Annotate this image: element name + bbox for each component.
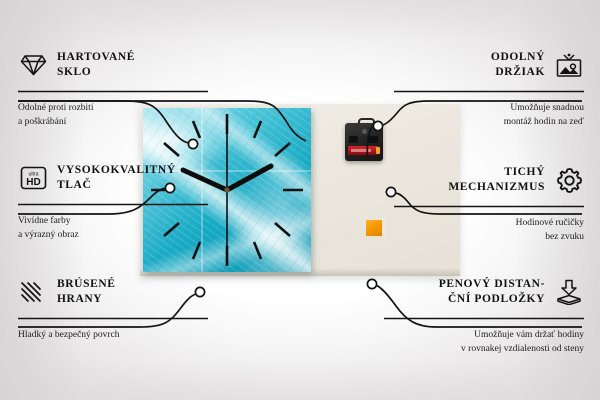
feature-title: HARTOVANÉ SKLO (57, 50, 135, 80)
feature-rule (384, 317, 584, 320)
feature-description: Odolné proti rozbití a poškrábání (18, 98, 208, 129)
feature-header: TICHÝ MECHANIZMUS (394, 165, 584, 195)
feature-description: Vivídne farby a výrazný obraz (18, 211, 208, 242)
feature-desc-line1: Odolné proti rozbití (18, 103, 93, 113)
feature-title-line1: ODOLNÝ (491, 51, 545, 63)
feature-desc-line1: Umožňuje snadnou (510, 103, 584, 113)
mechanism-slot-right (367, 136, 378, 143)
feature-title-line2: HRANY (57, 293, 102, 305)
feature-title-line1: HARTOVANÉ (57, 51, 135, 63)
feature-desc-line1: Vivídne farby (18, 216, 70, 226)
clock-mechanism (345, 123, 383, 161)
feature-desc-line2: a poškrábání (18, 117, 66, 127)
feature-description: Umožňuje vám držať hodiny v rovnakej vzd… (384, 325, 584, 356)
feature-silent-mechanism: TICHÝ MECHANIZMUS Hodinové ručičky bez z… (394, 165, 584, 244)
feature-header: PENOVÝ DISTAN- ČNÍ PODLOŽKY (384, 277, 584, 307)
feature-title: BRÚSENÉ HRANY (57, 277, 116, 307)
feature-title: ODOLNÝ DRŽIAK (491, 50, 545, 80)
feature-high-quality-print: ultra HD VYSOKOKVALITNÝ TLAČ Vivídne far… (18, 163, 208, 242)
feature-description: Hladký a bezpečný povrch (18, 325, 208, 342)
product-infographic: HARTOVANÉ SKLO Odolné proti rozbití a po… (0, 0, 600, 400)
foam-pad-face (366, 220, 382, 236)
feature-rule (18, 90, 208, 93)
ultra-hd-icon: ultra HD (18, 163, 48, 193)
diamond-icon (18, 50, 48, 80)
feature-desc-line1: Umožňuje vám držať hodiny (474, 330, 584, 340)
feature-title-line1: VYSOKOKVALITNÝ (57, 164, 176, 176)
battery (348, 146, 378, 155)
wall-hanger-icon (554, 50, 584, 80)
feature-header: ultra HD VYSOKOKVALITNÝ TLAČ (18, 163, 208, 193)
feature-header: ODOLNÝ DRŽIAK (394, 50, 584, 80)
mechanism-slot-left (349, 136, 358, 143)
feature-title-line1: BRÚSENÉ (57, 278, 116, 290)
feature-desc-line1: Hodinové ručičky (516, 218, 584, 228)
gear-icon (554, 165, 584, 195)
feature-desc-line2: v rovnakej vzdialenosti od steny (461, 344, 584, 354)
feature-title-line2: ČNÍ PODLOŽKY (448, 293, 545, 305)
press-pad-icon (554, 277, 584, 307)
feature-title-line2: MECHANIZMUS (448, 181, 545, 193)
battery-positive-tip (376, 147, 380, 154)
node-foam (367, 279, 376, 288)
feature-title-line1: PENOVÝ DISTAN- (439, 278, 545, 290)
foam-pad-side (382, 218, 386, 236)
clock-center-cap (224, 187, 229, 192)
feature-header: HARTOVANÉ SKLO (18, 50, 208, 80)
feature-title: VYSOKOKVALITNÝ TLAČ (57, 163, 176, 193)
feature-title-line2: DRŽIAK (495, 66, 545, 78)
feature-durable-holder: ODOLNÝ DRŽIAK Umožňuje snadnou montáž ho… (394, 50, 584, 129)
feature-desc-line2: bez zvuku (545, 232, 584, 242)
sanded-edge-icon (18, 277, 48, 307)
feature-sanded-edges: BRÚSENÉ HRANY Hladký a bezpečný povrch (18, 277, 208, 343)
minute-hand (227, 166, 271, 190)
feature-tempered-glass: HARTOVANÉ SKLO Odolné proti rozbití a po… (18, 50, 208, 129)
feature-foam-spacers: PENOVÝ DISTAN- ČNÍ PODLOŽKY Umožňuje vám… (384, 277, 584, 356)
feature-title: TICHÝ MECHANIZMUS (448, 165, 545, 195)
feature-rule (394, 90, 584, 93)
feature-desc-line2: montáž hodin na zeď (504, 117, 584, 127)
feature-rule (18, 317, 208, 320)
feature-header: BRÚSENÉ HRANY (18, 277, 208, 307)
feature-description: Hodinové ručičky bez zvuku (394, 213, 584, 244)
feature-title-line2: TLAČ (57, 179, 91, 191)
feature-rule (394, 205, 584, 208)
feature-description: Umožňuje snadnou montáž hodin na zeď (394, 98, 584, 129)
battery-label (351, 149, 371, 152)
feature-desc-line1: Hladký a bezpečný povrch (18, 330, 120, 340)
feature-desc-line2: a výrazný obraz (18, 230, 79, 240)
ultra-hd-large-text: HD (26, 177, 40, 188)
feature-title: PENOVÝ DISTAN- ČNÍ PODLOŽKY (439, 277, 545, 307)
mechanism-shaft (362, 129, 367, 134)
feature-title-line2: SKLO (57, 66, 91, 78)
foam-distance-pad (366, 218, 385, 237)
feature-title-line1: TICHÝ (504, 166, 545, 178)
feature-rule (18, 203, 208, 206)
